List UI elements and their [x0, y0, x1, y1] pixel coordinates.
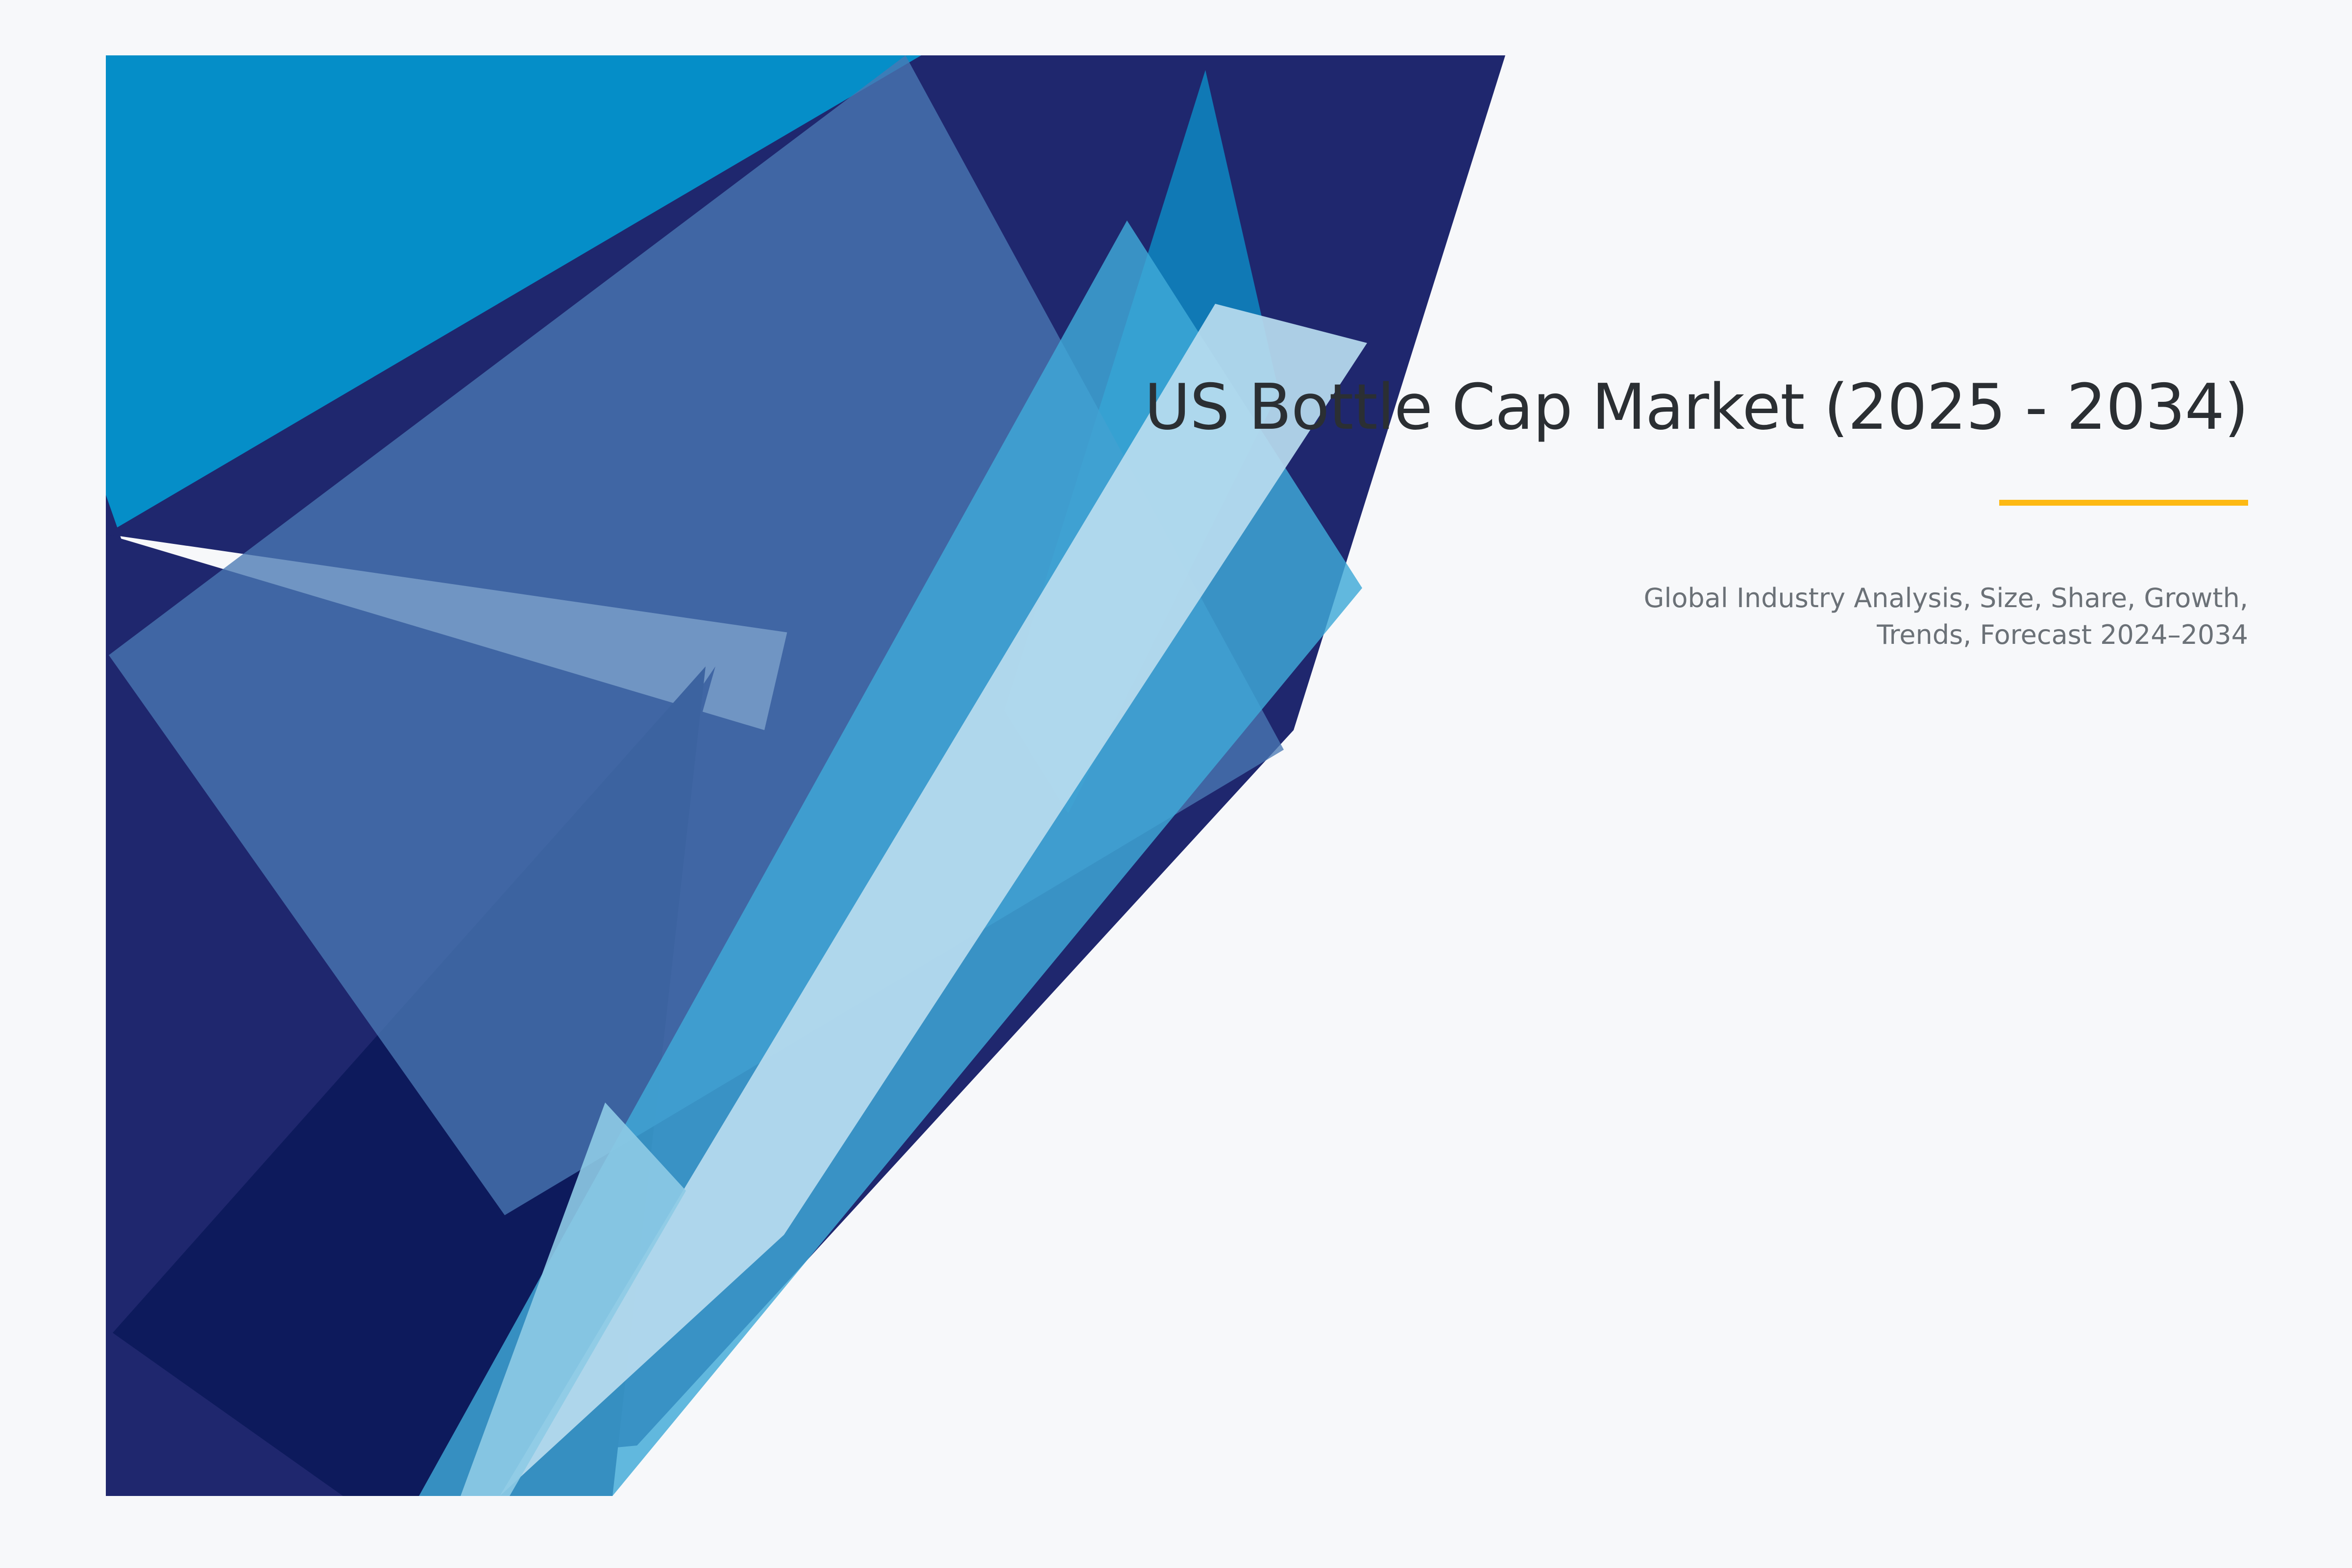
- navy-left-column: [106, 495, 715, 1496]
- accent-rule-container: [778, 497, 2248, 507]
- report-cover: US Bottle Cap Market (2025 - 2034) Globa…: [0, 0, 2352, 1568]
- abstract-polygon-graphic: [0, 0, 2352, 1568]
- pale-blue-bottom-wedge-shape: [461, 1102, 686, 1496]
- page-subtitle: Global Industry Analysis, Size, Share, G…: [1611, 580, 2248, 653]
- page-title: US Bottle Cap Market (2025 - 2034): [778, 372, 2248, 442]
- deep-navy-arrow-shape: [113, 666, 706, 1496]
- yellow-divider: [1999, 500, 2248, 506]
- navy-mid-wedge: [106, 534, 1294, 1496]
- cover-text-block: US Bottle Cap Market (2025 - 2034) Globa…: [778, 372, 2248, 653]
